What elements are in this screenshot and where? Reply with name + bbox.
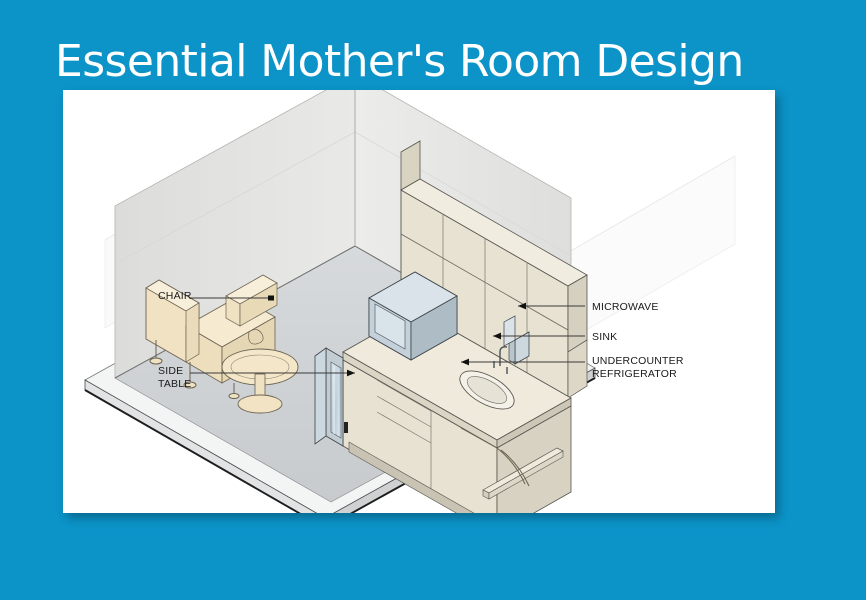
undercounter-refrigerator bbox=[315, 348, 348, 446]
callout-label-chair: CHAIR bbox=[158, 290, 192, 303]
slide-canvas: Essential Mother's Room Design bbox=[0, 0, 866, 600]
diagram-card: CHAIR SIDE TABLE MICROWAVE SINK UNDERCOU… bbox=[63, 90, 775, 513]
callout-label-microwave: MICROWAVE bbox=[592, 301, 659, 314]
page-title: Essential Mother's Room Design bbox=[55, 36, 815, 88]
callout-label-sink: SINK bbox=[592, 331, 617, 344]
callout-label-undercounter-refrigerator: UNDERCOUNTER REFRIGERATOR bbox=[592, 355, 684, 381]
callout-label-side-table: SIDE TABLE bbox=[158, 365, 191, 391]
refrigerator-handle bbox=[344, 422, 348, 433]
